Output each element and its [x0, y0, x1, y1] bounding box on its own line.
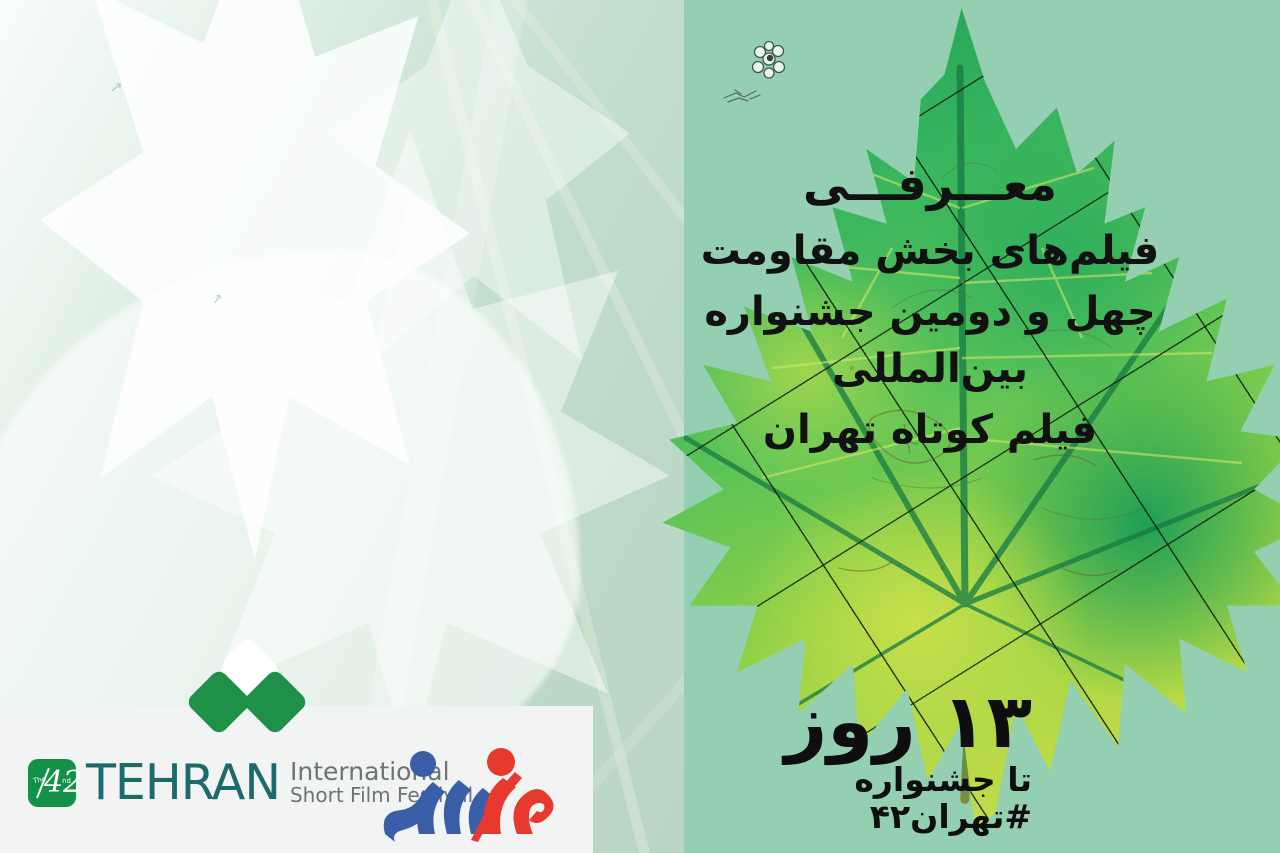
headline-line-1: معـــرفـــی — [620, 152, 1240, 217]
sketch-arrow-icon: ↗ — [109, 77, 124, 97]
trefoil-diamond-mark — [192, 646, 302, 738]
logo-bar: The 42 nd TEHRAN International Short Fil… — [0, 706, 593, 853]
countdown-days: ۱۳ روز — [684, 687, 1032, 758]
edition-badge: The 42 nd — [28, 759, 76, 807]
countdown-block: ۱۳ روز تا جشنواره #تهران۴۲ — [684, 687, 1044, 835]
tehran-wordmark: TEHRAN — [86, 758, 280, 807]
festival-figures-mark — [375, 742, 575, 842]
headline-line-4: فیلم کوتاه تهران — [620, 402, 1240, 459]
poster-canvas: ↗ ↗ ↗ — [0, 0, 1280, 853]
headline-block: معـــرفـــی فیلم‌های بخش مقاومت چهل و دو… — [620, 152, 1240, 459]
headline-line-3: چهل و دومین جشنواره بین‌المللی — [620, 284, 1240, 398]
badge-ordinal-label: nd — [62, 777, 71, 785]
countdown-caption: تا جشنواره #تهران۴۲ — [684, 762, 1032, 835]
headline-line-2: فیلم‌های بخش مقاومت — [620, 223, 1240, 280]
